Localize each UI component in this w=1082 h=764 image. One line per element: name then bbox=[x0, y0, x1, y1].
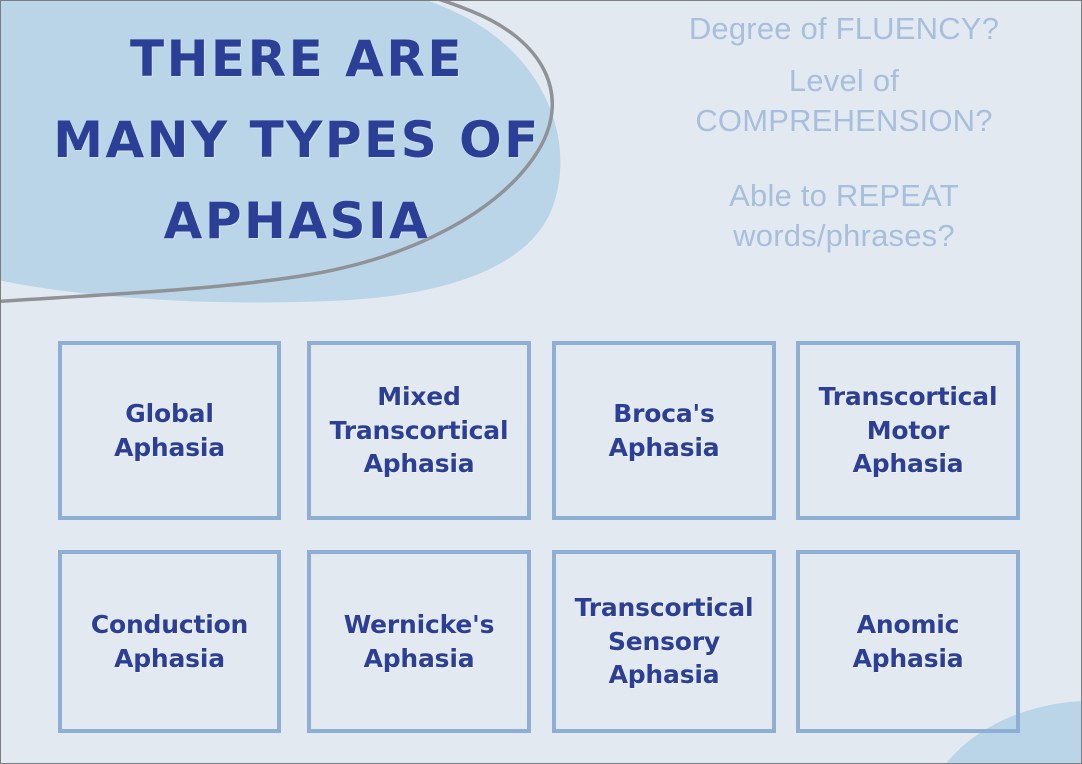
type-box-brocas-aphasia[interactable]: Broca's Aphasia bbox=[552, 341, 776, 520]
question-comprehension-line-2: COMPREHENSION? bbox=[613, 101, 1075, 141]
type-box-transcortical-motor-aphasia[interactable]: Transcortical Motor Aphasia bbox=[796, 341, 1020, 520]
page-title: THERE ARE MANY TYPES OF APHASIA bbox=[37, 19, 557, 262]
type-box-label: Broca's Aphasia bbox=[609, 397, 720, 464]
slide-canvas: THERE ARE MANY TYPES OF APHASIA Degree o… bbox=[0, 0, 1082, 764]
question-fluency: Degree of FLUENCY? bbox=[613, 9, 1075, 49]
aphasia-types-grid: Global Aphasia Mixed Transcortical Aphas… bbox=[58, 341, 1020, 733]
type-box-conduction-aphasia[interactable]: Conduction Aphasia bbox=[58, 550, 281, 733]
type-box-label: Anomic Aphasia bbox=[853, 608, 964, 675]
title-line-2: MANY TYPES OF bbox=[37, 100, 557, 181]
type-box-label: Transcortical Sensory Aphasia bbox=[575, 591, 754, 692]
question-repeat-line-1: Able to REPEAT bbox=[613, 176, 1075, 216]
type-box-anomic-aphasia[interactable]: Anomic Aphasia bbox=[796, 550, 1020, 733]
type-box-global-aphasia[interactable]: Global Aphasia bbox=[58, 341, 281, 520]
type-box-label: Transcortical Motor Aphasia bbox=[819, 380, 998, 481]
type-box-mixed-transcortical-aphasia[interactable]: Mixed Transcortical Aphasia bbox=[307, 341, 531, 520]
type-box-label: Conduction Aphasia bbox=[91, 608, 248, 675]
type-box-label: Wernicke's Aphasia bbox=[344, 608, 495, 675]
type-box-wernickes-aphasia[interactable]: Wernicke's Aphasia bbox=[307, 550, 531, 733]
title-line-1: THERE ARE bbox=[37, 19, 557, 100]
title-line-3: APHASIA bbox=[37, 181, 557, 262]
type-box-label: Mixed Transcortical Aphasia bbox=[330, 380, 509, 481]
guiding-questions: Degree of FLUENCY? Level of COMPREHENSIO… bbox=[613, 9, 1075, 256]
type-box-label: Global Aphasia bbox=[114, 397, 225, 464]
type-box-transcortical-sensory-aphasia[interactable]: Transcortical Sensory Aphasia bbox=[552, 550, 776, 733]
question-repeat-line-2: words/phrases? bbox=[613, 216, 1075, 256]
question-comprehension-line-1: Level of bbox=[613, 61, 1075, 101]
